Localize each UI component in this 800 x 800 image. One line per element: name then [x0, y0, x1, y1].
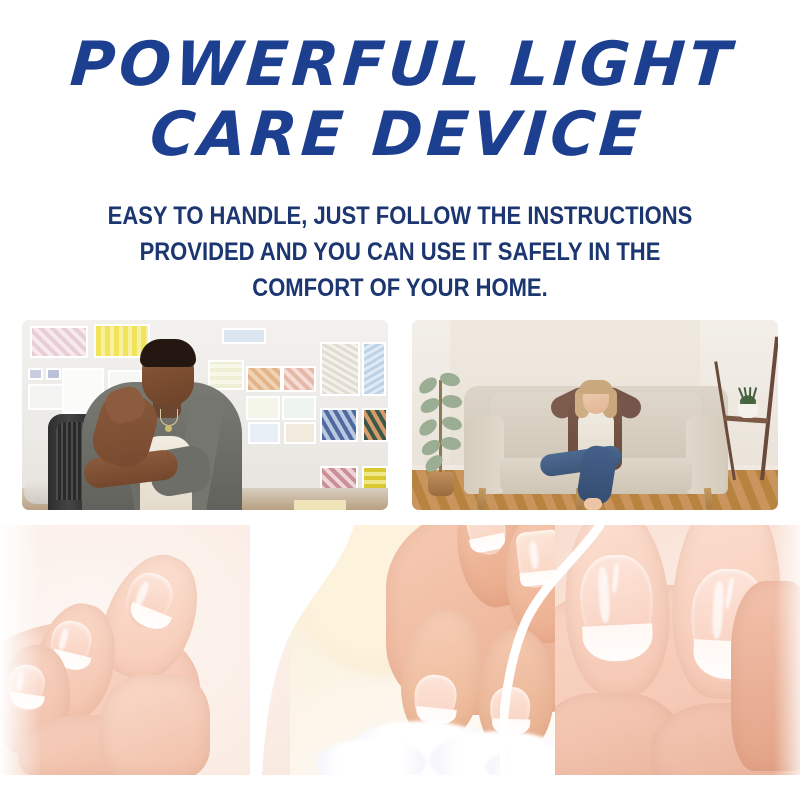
french-manicure-hand-photo-1 — [0, 525, 300, 775]
promo-banner: POWERFUL LIGHT CARE DEVICE EASY TO HANDL… — [0, 0, 800, 800]
page-title: POWERFUL LIGHT CARE DEVICE — [0, 30, 800, 170]
plant-stand-right — [724, 336, 770, 480]
subtitle-line-2: PROVIDED AND YOU CAN USE IT SAFELY IN TH… — [48, 234, 752, 270]
page-subtitle: EASY TO HANDLE, JUST FOLLOW THE INSTRUCT… — [48, 198, 752, 306]
collage-left-fade — [0, 525, 42, 775]
subtitle-line-3: COMFORT OF YOUR HOME. — [48, 270, 752, 306]
headline-line-1: POWERFUL LIGHT — [0, 30, 800, 100]
lifestyle-photo-row — [22, 320, 778, 510]
nail-collage — [0, 525, 800, 775]
french-manicure-hand-photo-3 — [555, 525, 800, 775]
woman-relaxing-on-sofa-photo — [412, 320, 778, 510]
subtitle-line-1: EASY TO HANDLE, JUST FOLLOW THE INSTRUCT… — [48, 198, 752, 234]
headline-line-2: CARE DEVICE — [0, 100, 800, 170]
collage-right-fade — [774, 525, 800, 775]
woman-at-design-desk-photo — [22, 320, 388, 510]
houseplant-left — [418, 368, 464, 496]
